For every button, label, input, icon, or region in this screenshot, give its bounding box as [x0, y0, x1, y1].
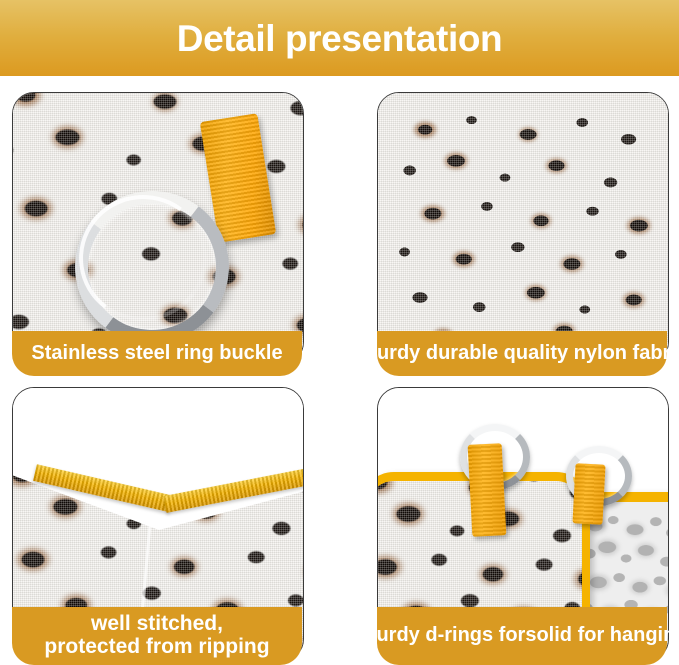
- caption-text-block: well stitched, protected from ripping: [44, 613, 269, 658]
- caption-nylon-fabric: Sturdy durable quality nylon fabric: [377, 331, 667, 376]
- caption-line-1: well stitched,: [44, 613, 269, 636]
- caption-text: Stainless steel ring buckle: [31, 343, 282, 365]
- photo-ring-buckle: [13, 93, 303, 363]
- header-banner: Detail presentation: [0, 0, 679, 76]
- caption-line-2: protected from ripping: [44, 636, 269, 659]
- caption-stitching: well stitched, protected from ripping: [12, 607, 302, 665]
- caption-ring-buckle: Stainless steel ring buckle: [12, 331, 302, 376]
- leopard-fabric-texture: [378, 93, 668, 363]
- detail-panel-nylon-fabric[interactable]: [377, 92, 669, 364]
- photo-nylon-fabric: [378, 93, 668, 363]
- caption-text: Sturdy d-rings forsolid for hanging: [356, 625, 679, 647]
- caption-d-rings: Sturdy d-rings forsolid for hanging: [377, 607, 667, 665]
- orange-hanging-tab-left: [468, 443, 507, 537]
- orange-hanging-tab-right: [572, 463, 605, 524]
- page-title: Detail presentation: [177, 20, 502, 57]
- caption-text: Sturdy durable quality nylon fabric: [357, 343, 679, 365]
- detail-panel-ring-buckle[interactable]: [12, 92, 304, 364]
